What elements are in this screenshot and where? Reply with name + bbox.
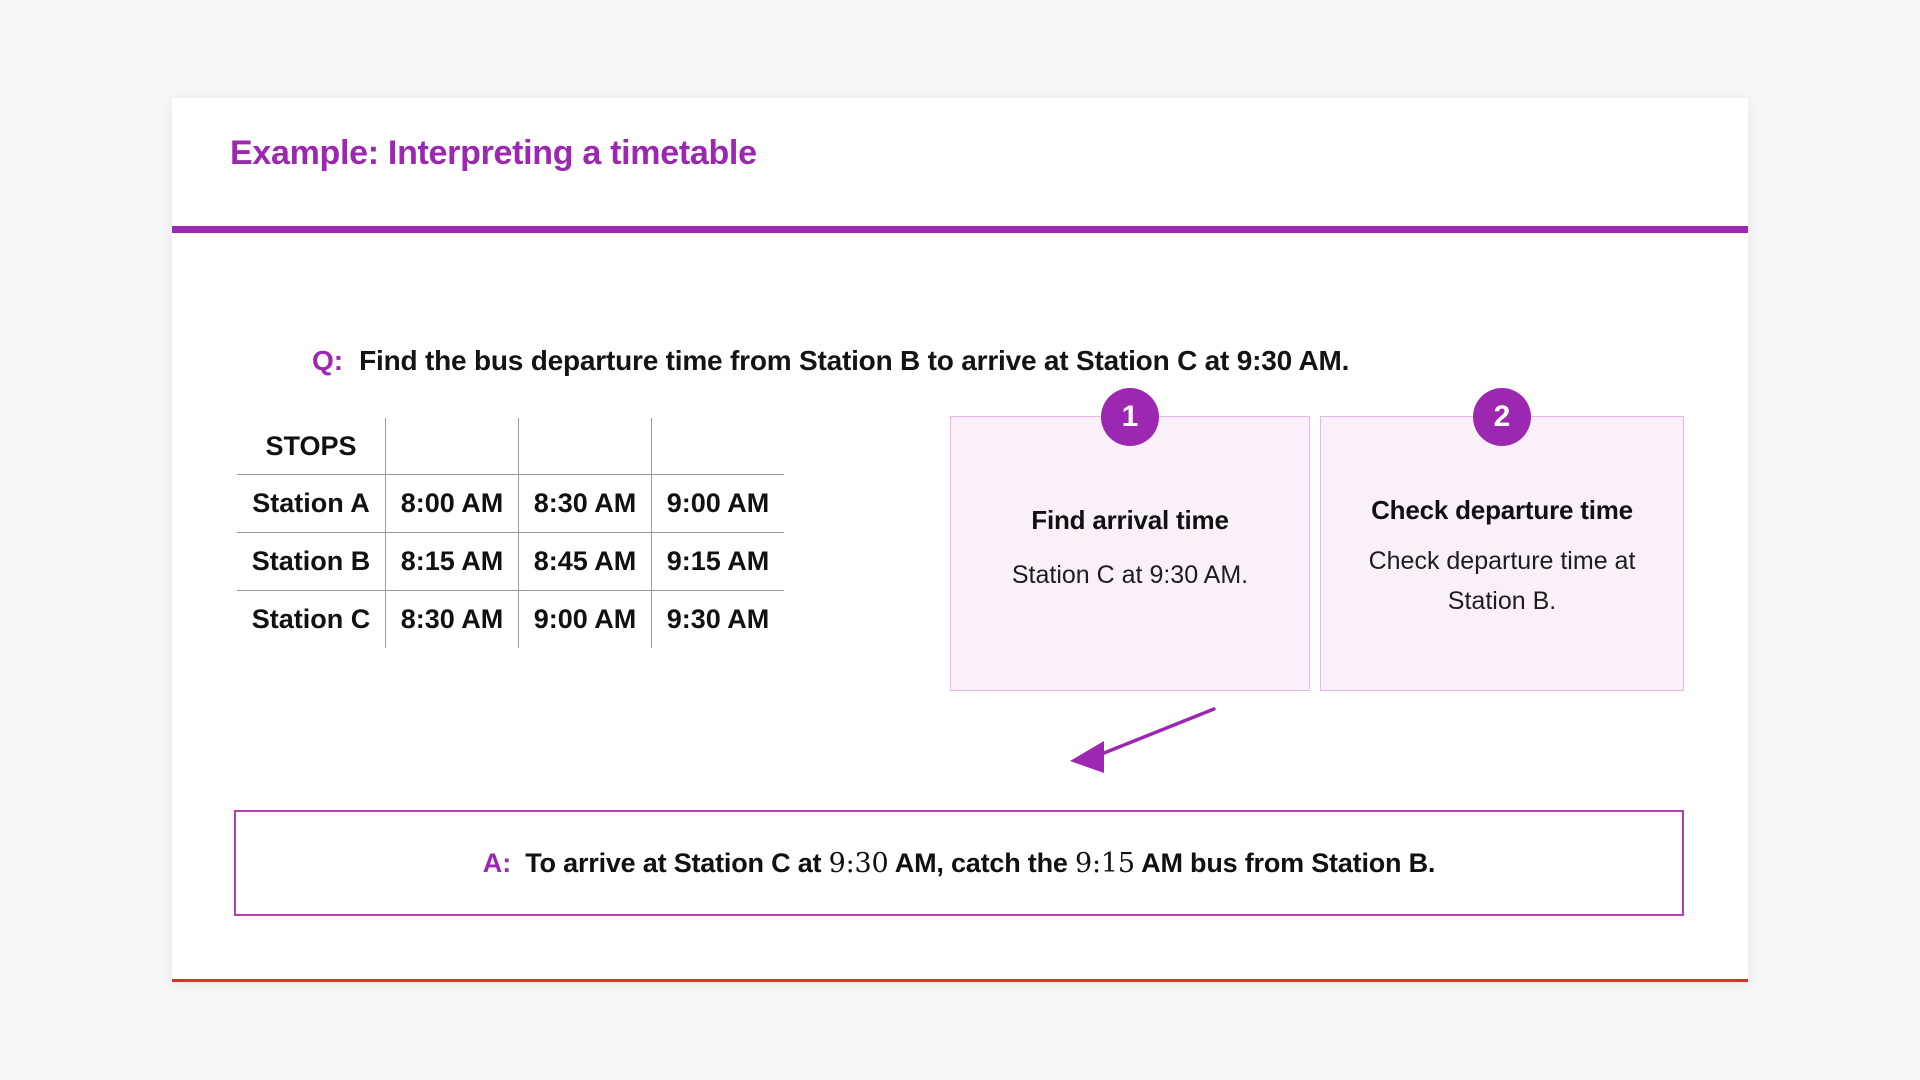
step-title-2: Check departure time — [1321, 495, 1683, 526]
timetable: STOPS Station A 8:00 AM 8:30 AM 9:00 AM — [234, 415, 787, 651]
answer-part-1: To arrive at Station C at — [525, 848, 828, 878]
question-row: Q: Find the bus departure time from Stat… — [312, 345, 1349, 377]
cell-stop-name: Station C — [236, 591, 386, 650]
answer-time-arrival: 9:30 — [829, 848, 889, 879]
question-label: Q: — [312, 345, 343, 377]
header-cell-stops: STOPS — [236, 417, 386, 475]
header-cell-trip-1 — [386, 417, 519, 475]
answer-part-2: AM, catch the — [888, 848, 1075, 878]
cell-stop-name: Station A — [236, 475, 386, 533]
answer-time-departure: 9:15 — [1075, 848, 1135, 879]
step-title-1: Find arrival time — [951, 505, 1309, 536]
answer-part-3: AM bus from Station B. — [1135, 848, 1435, 878]
answer-label: A: — [483, 848, 512, 879]
step-card-1: 1 Find arrival time Station C at 9:30 AM… — [950, 416, 1310, 691]
timetable-head: STOPS — [236, 417, 786, 475]
table-row: Station B 8:15 AM 8:45 AM 9:15 AM — [236, 533, 786, 591]
timetable-container: STOPS Station A 8:00 AM 8:30 AM 9:00 AM — [234, 415, 787, 651]
table-row: Station A 8:00 AM 8:30 AM 9:00 AM — [236, 475, 786, 533]
slide-stage: Example: Interpreting a timetable Q: Fin… — [0, 0, 1920, 1080]
answer-text: To arrive at Station C at 9:30 AM, catch… — [525, 848, 1435, 879]
table-row: Station C 8:30 AM 9:00 AM 9:30 AM — [236, 591, 786, 650]
answer-box: A: To arrive at Station C at 9:30 AM, ca… — [234, 810, 1684, 916]
question-text: Find the bus departure time from Station… — [359, 345, 1349, 377]
callout-arrow-icon — [1042, 693, 1222, 783]
step-badge-2: 2 — [1473, 388, 1531, 446]
cell-stop-name: Station B — [236, 533, 386, 591]
table-header-row: STOPS — [236, 417, 786, 475]
step-badge-1: 1 — [1101, 388, 1159, 446]
timetable-body: Station A 8:00 AM 8:30 AM 9:00 AM Statio… — [236, 475, 786, 650]
cell-time: 9:00 AM — [519, 591, 652, 650]
header-cell-trip-3 — [652, 417, 786, 475]
cell-time-highlighted: 9:15 AM — [652, 533, 786, 591]
header-cell-trip-2 — [519, 417, 652, 475]
cell-time: 8:45 AM — [519, 533, 652, 591]
cell-time: 8:30 AM — [519, 475, 652, 533]
cell-time: 8:15 AM — [386, 533, 519, 591]
cell-time: 9:00 AM — [652, 475, 786, 533]
slide-card: Example: Interpreting a timetable Q: Fin… — [172, 98, 1748, 982]
step-card-2: 2 Check departure time Check departure t… — [1320, 416, 1684, 691]
cell-time: 8:30 AM — [386, 591, 519, 650]
step-body-1: Station C at 9:30 AM. — [961, 555, 1299, 595]
step-body-2: Check departure time at Station B. — [1331, 541, 1673, 621]
title-divider — [172, 226, 1748, 233]
page-title: Example: Interpreting a timetable — [230, 134, 757, 173]
cell-time-highlighted: 9:30 AM — [652, 591, 786, 650]
cell-time: 8:00 AM — [386, 475, 519, 533]
